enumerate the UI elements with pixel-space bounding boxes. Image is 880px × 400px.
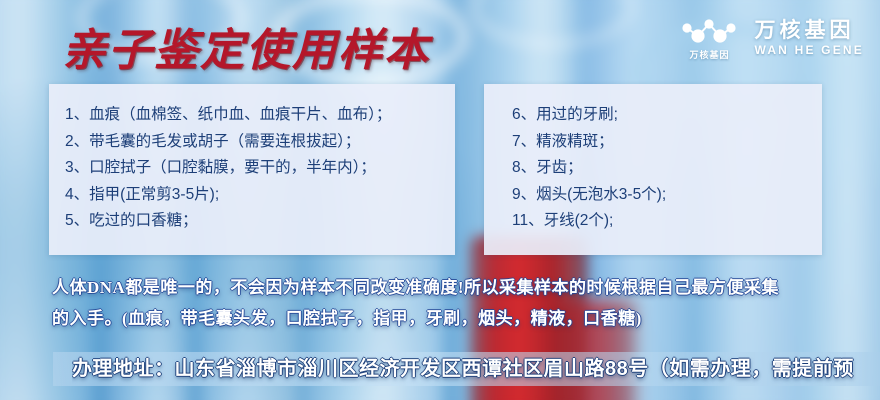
poster-root: 亲子鉴定使用样本 万核基因 万核基 [0, 0, 880, 400]
page-title: 亲子鉴定使用样本 [62, 14, 430, 78]
list-item: 7、精液精斑； [512, 129, 822, 156]
brand-name-cn: 万核基因 [754, 20, 864, 42]
list-item: 1、血痕（血棉签、纸巾血、血痕干片、血布）； [65, 102, 455, 129]
molecule-network-icon [678, 16, 740, 46]
logo-mark-caption: 万核基因 [689, 48, 729, 61]
list-item: 5、吃过的口香糖； [65, 208, 455, 235]
list-item: 4、指甲(正常剪3-5片); [65, 182, 455, 209]
brand-logo: 万核基因 万核基因 WAN HE GENE [678, 16, 864, 61]
sample-list-left: 1、血痕（血棉签、纸巾血、血痕干片、血布）； 2、带毛囊的毛发或胡子（需要连根拔… [49, 84, 455, 235]
logo-mark: 万核基因 [678, 16, 740, 61]
list-item: 6、用过的牙刷; [512, 102, 822, 129]
sample-panel-right: 6、用过的牙刷; 7、精液精斑； 8、牙齿； 9、烟头(无泡水3-5个); 11… [484, 84, 822, 255]
sample-panel-left: 1、血痕（血棉签、纸巾血、血痕干片、血布）； 2、带毛囊的毛发或胡子（需要连根拔… [49, 84, 455, 255]
list-item: 11、牙线(2个); [512, 208, 822, 235]
logo-text: 万核基因 WAN HE GENE [754, 20, 864, 57]
brand-name-en: WAN HE GENE [754, 44, 864, 57]
list-item: 8、牙齿； [512, 155, 822, 182]
sample-list-right: 6、用过的牙刷; 7、精液精斑； 8、牙齿； 9、烟头(无泡水3-5个); 11… [484, 84, 822, 235]
list-item: 9、烟头(无泡水3-5个); [512, 182, 822, 209]
description-line-2: 的入手。(血痕，带毛囊头发，口腔拭子，指甲，牙刷，烟头，精液，口香糖) [52, 303, 842, 334]
list-item: 3、口腔拭子（口腔黏膜，要干的，半年内）； [65, 155, 455, 182]
address-text: 办理地址：山东省淄博市淄川区经济开发区西谭社区眉山路88号（如需办理，需提前预 [72, 353, 880, 386]
list-item: 2、带毛囊的毛发或胡子（需要连根拔起）； [65, 129, 455, 156]
description-paragraph: 人体DNA都是唯一的，不会因为样本不同改变准确度!所以采集样本的时候根据自己最方… [52, 272, 842, 334]
description-line-1: 人体DNA都是唯一的，不会因为样本不同改变准确度!所以采集样本的时候根据自己最方… [52, 272, 842, 303]
